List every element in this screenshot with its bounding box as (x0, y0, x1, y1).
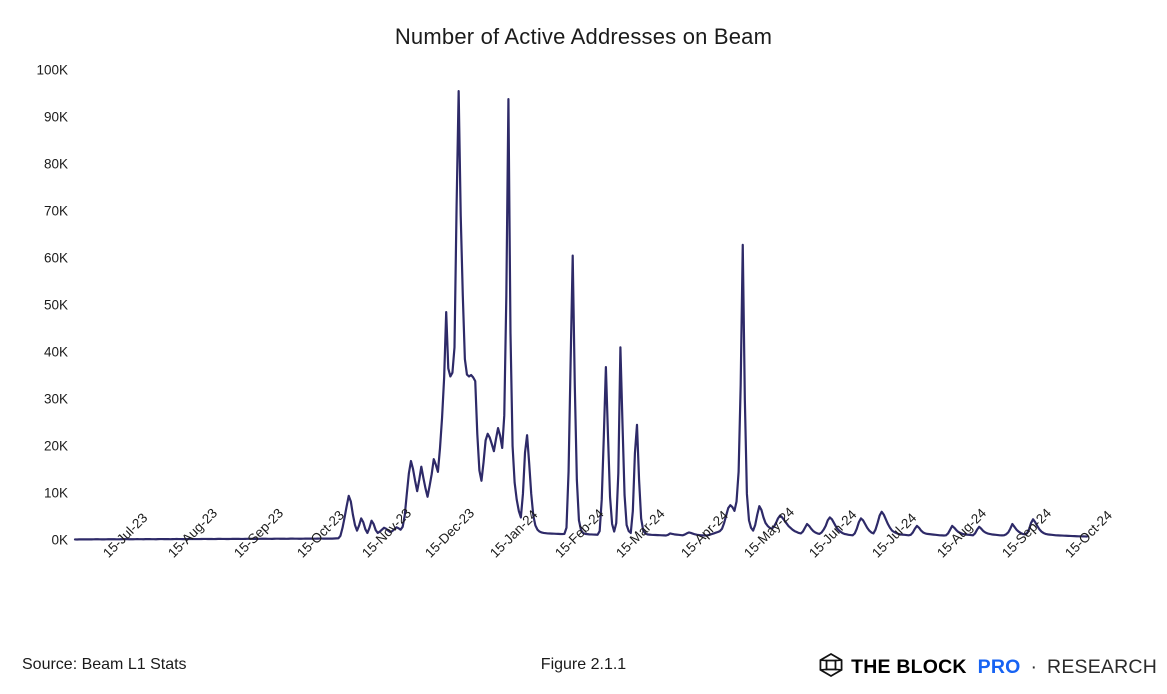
hexagon-cube-icon (818, 652, 844, 683)
line-chart-svg (75, 70, 1087, 540)
y-tick-label: 10K (44, 486, 68, 501)
y-tick-label: 0K (51, 533, 68, 548)
brand-separator: · (1031, 656, 1038, 679)
y-tick-label: 30K (44, 392, 68, 407)
y-tick-label: 100K (36, 63, 68, 78)
brand-research: RESEARCH (1047, 656, 1157, 679)
brand-the-block: THE BLOCK (851, 656, 967, 679)
y-tick-label: 40K (44, 345, 68, 360)
y-tick-label: 70K (44, 204, 68, 219)
y-tick-label: 60K (44, 251, 68, 266)
chart-card: Number of Active Addresses on Beam 0K10K… (0, 0, 1167, 694)
series-line-active-addresses (75, 91, 1087, 539)
brand-pro: PRO (978, 656, 1021, 679)
page-title: Number of Active Addresses on Beam (0, 24, 1167, 50)
y-tick-label: 90K (44, 110, 68, 125)
plot-area (75, 70, 1087, 540)
y-tick-label: 20K (44, 439, 68, 454)
y-axis: 0K10K20K30K40K50K60K70K80K90K100K (0, 70, 68, 540)
chart-footer: Source: Beam L1 Stats Figure 2.1.1 THE B… (0, 642, 1167, 694)
the-block-pro-research-logo: THE BLOCK PRO · RESEARCH (818, 652, 1157, 682)
y-tick-label: 50K (44, 298, 68, 313)
x-axis: 15-Jul-2315-Aug-2315-Sep-2315-Oct-2315-N… (75, 542, 1087, 622)
y-tick-label: 80K (44, 157, 68, 172)
